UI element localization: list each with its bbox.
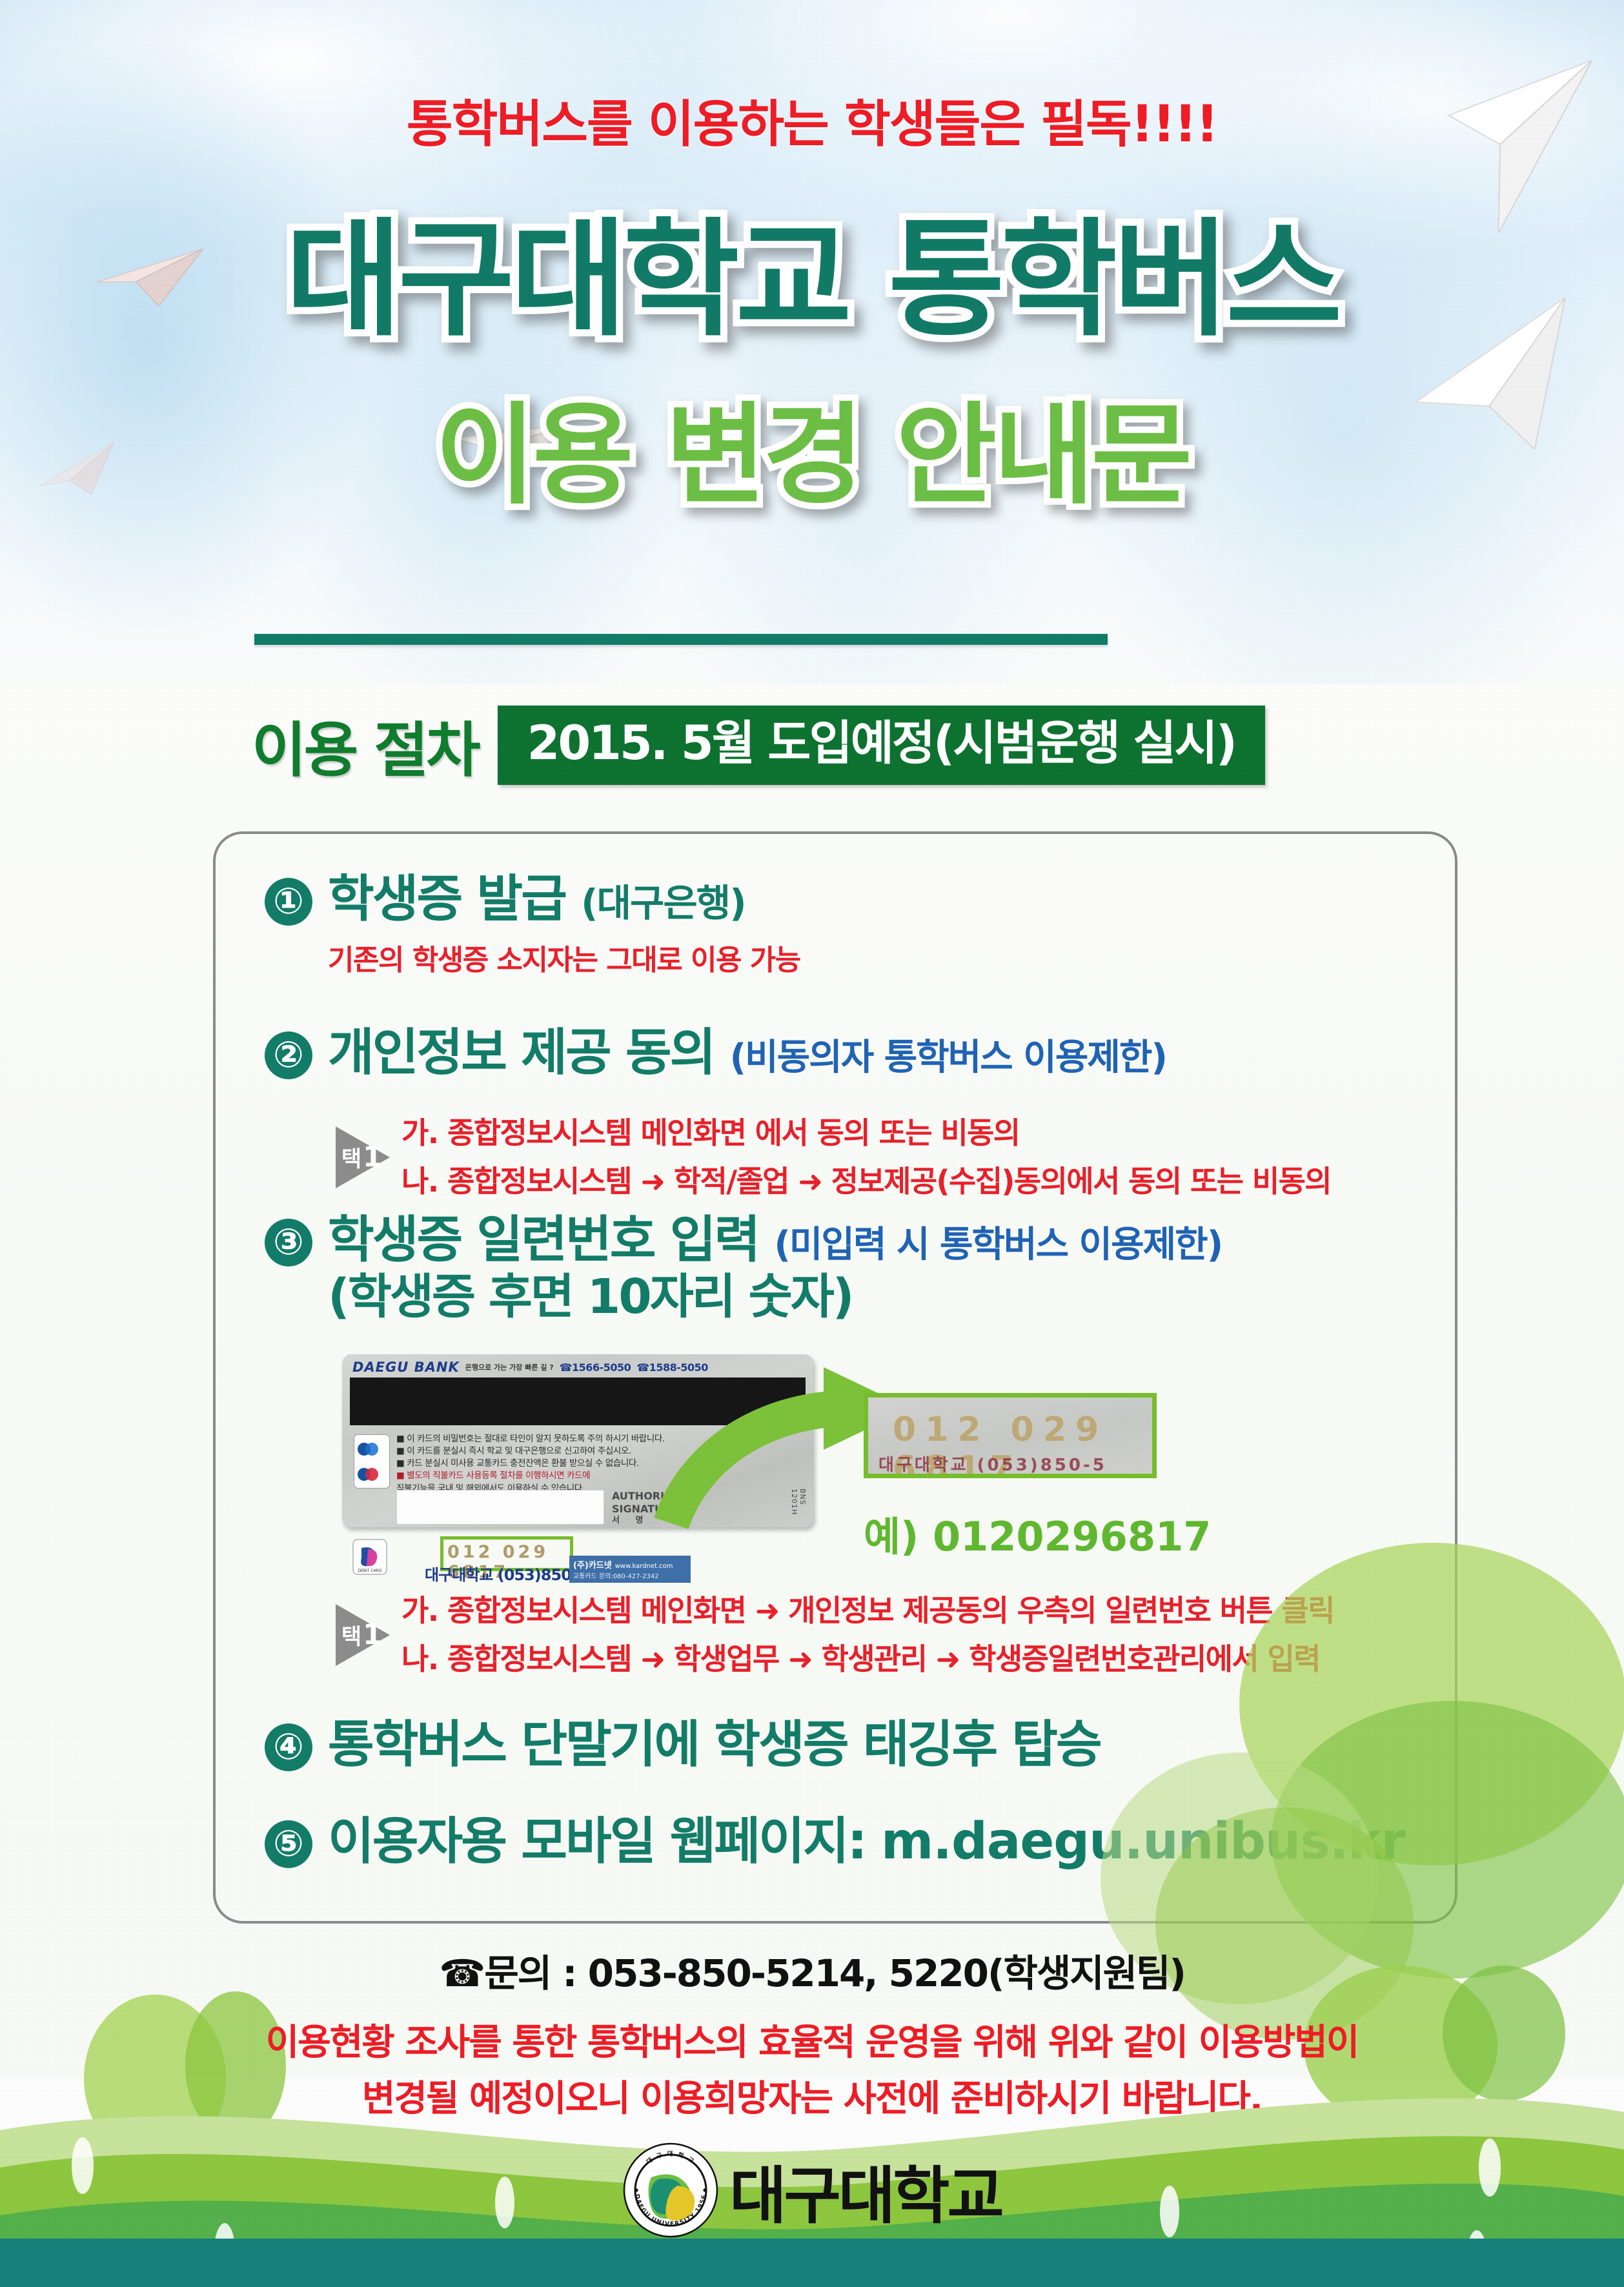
bank-tagline: 은행으로 가는 가장 빠른 길 ? xyxy=(465,1362,554,1372)
step-2-paren: (비동의자 통학버스 이용제한) xyxy=(730,1037,1166,1079)
section-header: 이용 절차 2015. 5월 도입예정(시범운행 실시) xyxy=(252,702,1265,788)
pick-one-group-2: 택 1 가. 종합정보시스템 메인화면 ➜ 개인정보 제공동의 우측의 일련번호… xyxy=(336,1587,1334,1683)
step-number-badge: ③ xyxy=(265,1219,312,1266)
step-number-badge: ② xyxy=(265,1032,312,1079)
step-3-paren: (미입력 시 통학버스 이용제한) xyxy=(774,1224,1222,1266)
bank-tel-1: ☎1566-5050 xyxy=(560,1361,631,1374)
step-1-subnote: 기존의 학생증 소지자는 그대로 이용 가능 xyxy=(328,937,800,978)
pick-badge-label: 택 xyxy=(338,1147,360,1167)
kicker-text: 통학버스를 이용하는 학생들은 필독!!!! xyxy=(0,84,1624,156)
step-1-paren: (대구은행) xyxy=(581,881,745,925)
step-3: ③ 학생증 일련번호 입력 (미입력 시 통학버스 이용제한) (학생증 후면 … xyxy=(265,1212,1222,1325)
pick-line: 가. 종합정보시스템 메인화면 ➜ 개인정보 제공동의 우측의 일련번호 버튼 … xyxy=(401,1587,1334,1635)
callout-ghost-text: 대구대학교 (053)850-5 xyxy=(878,1452,1107,1476)
step-4-heading: 통학버스 단말기에 학생증 태깅후 탑승 xyxy=(328,1717,1101,1773)
pick-line: 나. 종합정보시스템 ➜ 학적/졸업 ➜ 정보제공(수집)동의에서 동의 또는 … xyxy=(401,1157,1331,1206)
pick-one-group-1: 택 1 가. 종합정보시스템 메인화면 에서 동의 또는 비동의 나. 종합정보… xyxy=(336,1109,1331,1205)
step-1-heading: 학생증 발급 (대구은행) xyxy=(328,871,800,928)
step-5-heading-text: 이용자용 모바일 웹페이지: xyxy=(328,1813,881,1871)
poster-root: 통학버스를 이용하는 학생들은 필독!!!! 대구대학교 통학버스 이용 변경 … xyxy=(0,0,1624,2287)
serial-zoom-box: 012 029 6817 대구대학교 (053)850-5 xyxy=(864,1393,1157,1478)
step-3-heading: 학생증 일련번호 입력 (미입력 시 통학버스 이용제한) xyxy=(328,1212,1222,1268)
serial-zoom-callout: 012 029 6817 대구대학교 (053)850-5 예) 0120296… xyxy=(864,1393,1211,1562)
step-5-heading: 이용자용 모바일 웹페이지: m.daegu.unibus.kr xyxy=(328,1814,1405,1870)
kardnet-block: (주)카드넷www.kardnet.com 교통카드 문의:080-427-23… xyxy=(569,1556,691,1583)
callout-arrow-icon xyxy=(864,1405,869,1462)
mobile-webpage-url[interactable]: m.daegu.unibus.kr xyxy=(881,1813,1405,1871)
title-divider xyxy=(254,634,1108,645)
kardnet-name: (주)카드넷 xyxy=(573,1561,612,1570)
signature-box xyxy=(396,1490,604,1525)
poster-sub-title: 이용 변경 안내문 xyxy=(0,400,1624,512)
pick-badge-label: 택 xyxy=(338,1625,360,1645)
pick-one-badge: 택 1 xyxy=(336,1126,391,1188)
network-logos xyxy=(354,1434,390,1489)
step-5: ⑤ 이용자용 모바일 웹페이지: m.daegu.unibus.kr xyxy=(265,1814,1405,1870)
pick-badge-number: 1 xyxy=(363,1143,381,1172)
step-number-badge: ① xyxy=(265,878,312,926)
step-1-heading-text: 학생증 발급 xyxy=(328,870,565,928)
contact-line: ☎문의 : 053-850-5214, 5220(학생지원팀) xyxy=(0,1943,1624,1997)
daegu-university-emblem-icon: 대 구 대 학 교 DAEGU UNIVERSITY 1956 xyxy=(622,2142,719,2239)
pick-line: 나. 종합정보시스템 ➜ 학생업무 ➜ 학생관리 ➜ 학생증일련번호관리에서 입… xyxy=(401,1635,1334,1683)
kardnet-url: www.kardnet.com xyxy=(615,1563,673,1570)
debit-card-icon: DEBIT CARD xyxy=(352,1539,387,1578)
step-2-heading: 개인정보 제공 동의 (비동의자 통학버스 이용제한) xyxy=(328,1025,1166,1081)
maestro-icon xyxy=(358,1466,386,1483)
poster-main-title: 대구대학교 통학버스 xyxy=(0,216,1624,345)
pick-line: 가. 종합정보시스템 메인화면 에서 동의 또는 비동의 xyxy=(401,1109,1331,1157)
serial-example-text: 예) 0120296817 xyxy=(864,1504,1211,1562)
footer-bar xyxy=(0,2239,1624,2287)
pick-badge-number: 1 xyxy=(363,1621,381,1649)
step-number-badge: ④ xyxy=(265,1723,312,1771)
bank-name: DAEGU BANK xyxy=(352,1359,460,1375)
step-2-heading-text: 개인정보 제공 동의 xyxy=(328,1024,714,1082)
step-2: ② 개인정보 제공 동의 (비동의자 통학버스 이용제한) xyxy=(265,1025,1166,1081)
step-number-badge: ⑤ xyxy=(265,1820,312,1868)
pick-one-badge: 택 1 xyxy=(336,1604,391,1666)
svg-text:DEBIT CARD: DEBIT CARD xyxy=(358,1569,382,1573)
university-name: 대구대학교 xyxy=(729,2146,1002,2235)
step-3-heading-line2: (학생증 후면 10자리 숫자) xyxy=(328,1270,1222,1325)
step-4: ④ 통학버스 단말기에 학생증 태깅후 탑승 xyxy=(265,1717,1101,1773)
kardnet-tel: 교통카드 문의:080-427-2342 xyxy=(573,1570,691,1580)
step-3-heading-text: 학생증 일련번호 입력 xyxy=(328,1211,758,1269)
section-title: 이용 절차 xyxy=(252,702,478,788)
cirrus-icon xyxy=(358,1441,386,1458)
section-badge: 2015. 5월 도입예정(시범운행 실시) xyxy=(498,706,1265,785)
university-logo-row: 대 구 대 학 교 DAEGU UNIVERSITY 1956 대구대학교 xyxy=(0,2142,1624,2239)
step-1: ① 학생증 발급 (대구은행) 기존의 학생증 소지자는 그대로 이용 가능 xyxy=(265,871,800,978)
